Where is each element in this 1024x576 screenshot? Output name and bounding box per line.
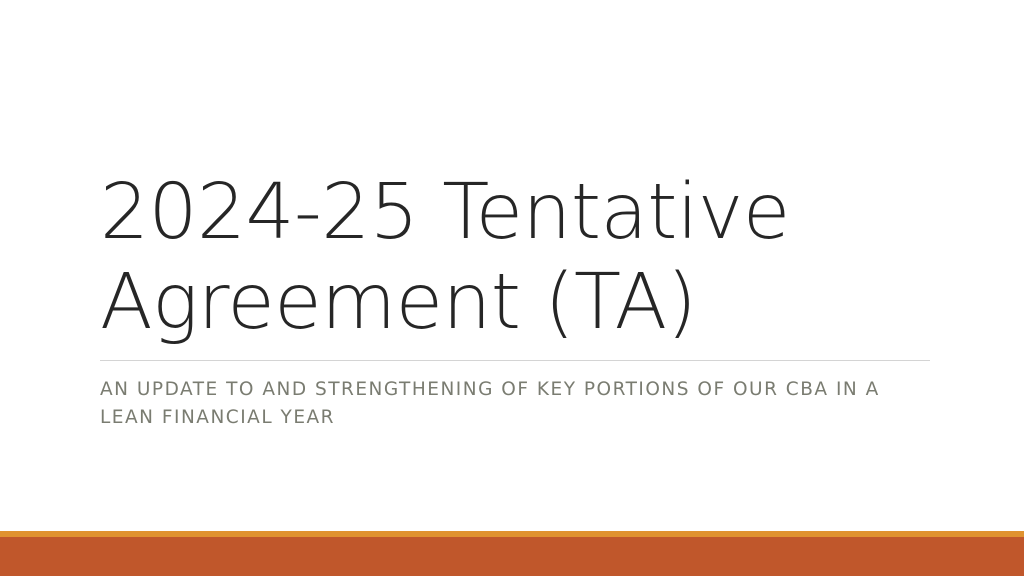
page-subtitle: An update to and strengthening of key po… [100,376,900,432]
title-placeholder[interactable]: 2024-25 Tentative Agreement (TA) [100,168,940,348]
subtitle-placeholder[interactable]: An update to and strengthening of key po… [100,376,900,432]
title-slide: 2024-25 Tentative Agreement (TA) An upda… [0,0,1024,576]
title-divider [100,360,930,361]
page-title: 2024-25 Tentative Agreement (TA) [100,168,940,348]
accent-band-rust [0,537,1024,576]
